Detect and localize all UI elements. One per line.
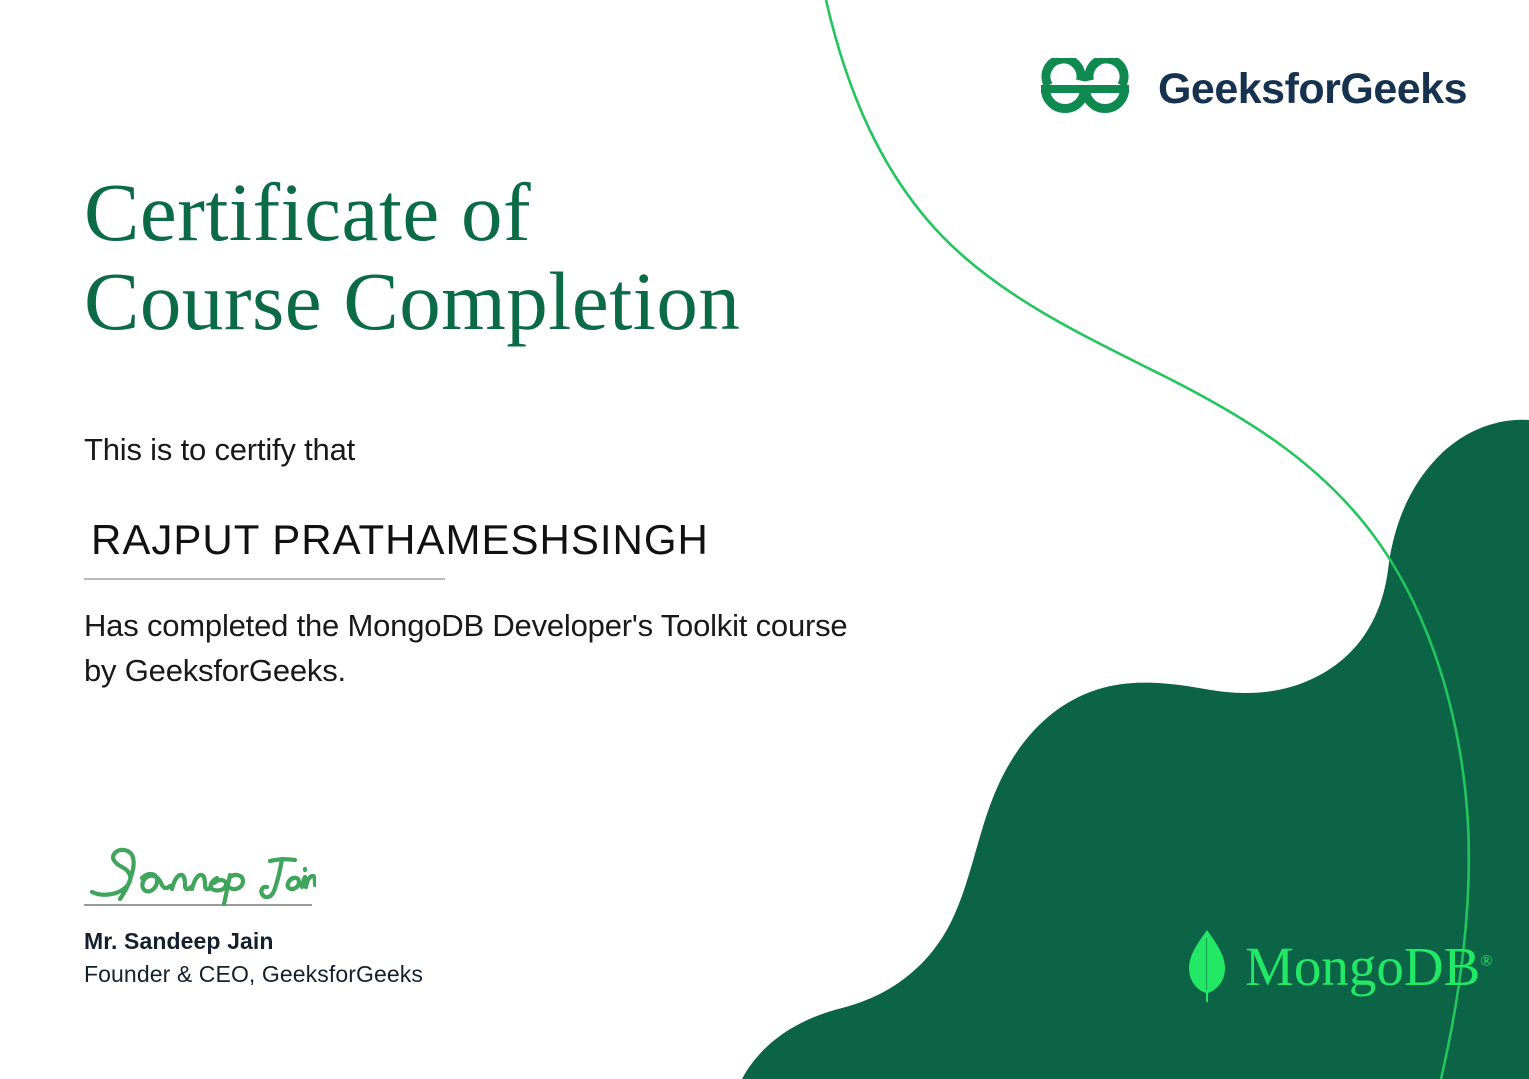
geeksforgeeks-logo-icon [1034,58,1136,120]
recipient-block: RAJPUT PRATHAMESHSINGH [84,516,1064,580]
signatory-name: Mr. Sandeep Jain [84,928,504,955]
certificate-body: Certificate of Course Completion This is… [84,168,1064,693]
mongodb-lockup: MongoDB® [1185,928,1492,1004]
certify-line: This is to certify that [84,432,1064,468]
recipient-name: RAJPUT PRATHAMESHSINGH [84,516,1064,564]
signature-underline [84,904,312,906]
recipient-name-underline [84,578,445,580]
geeksforgeeks-wordmark: GeeksforGeeks [1158,68,1467,111]
signature-icon [84,845,316,907]
registered-trademark-mark: ® [1480,952,1492,969]
signatory-role: Founder & CEO, GeeksforGeeks [84,961,504,988]
mongodb-wordmark-text: MongoDB [1245,936,1480,997]
page-title: Certificate of Course Completion [84,168,1064,346]
mongodb-leaf-icon [1185,928,1229,1004]
certificate-page: GeeksforGeeks Certificate of Course Comp… [0,0,1529,1079]
brand-header: GeeksforGeeks [1034,58,1467,120]
course-statement: Has completed the MongoDB Developer's To… [84,604,1064,694]
signature-block: Mr. Sandeep Jain Founder & CEO, Geeksfor… [84,845,504,988]
mongodb-wordmark: MongoDB® [1245,939,1492,994]
